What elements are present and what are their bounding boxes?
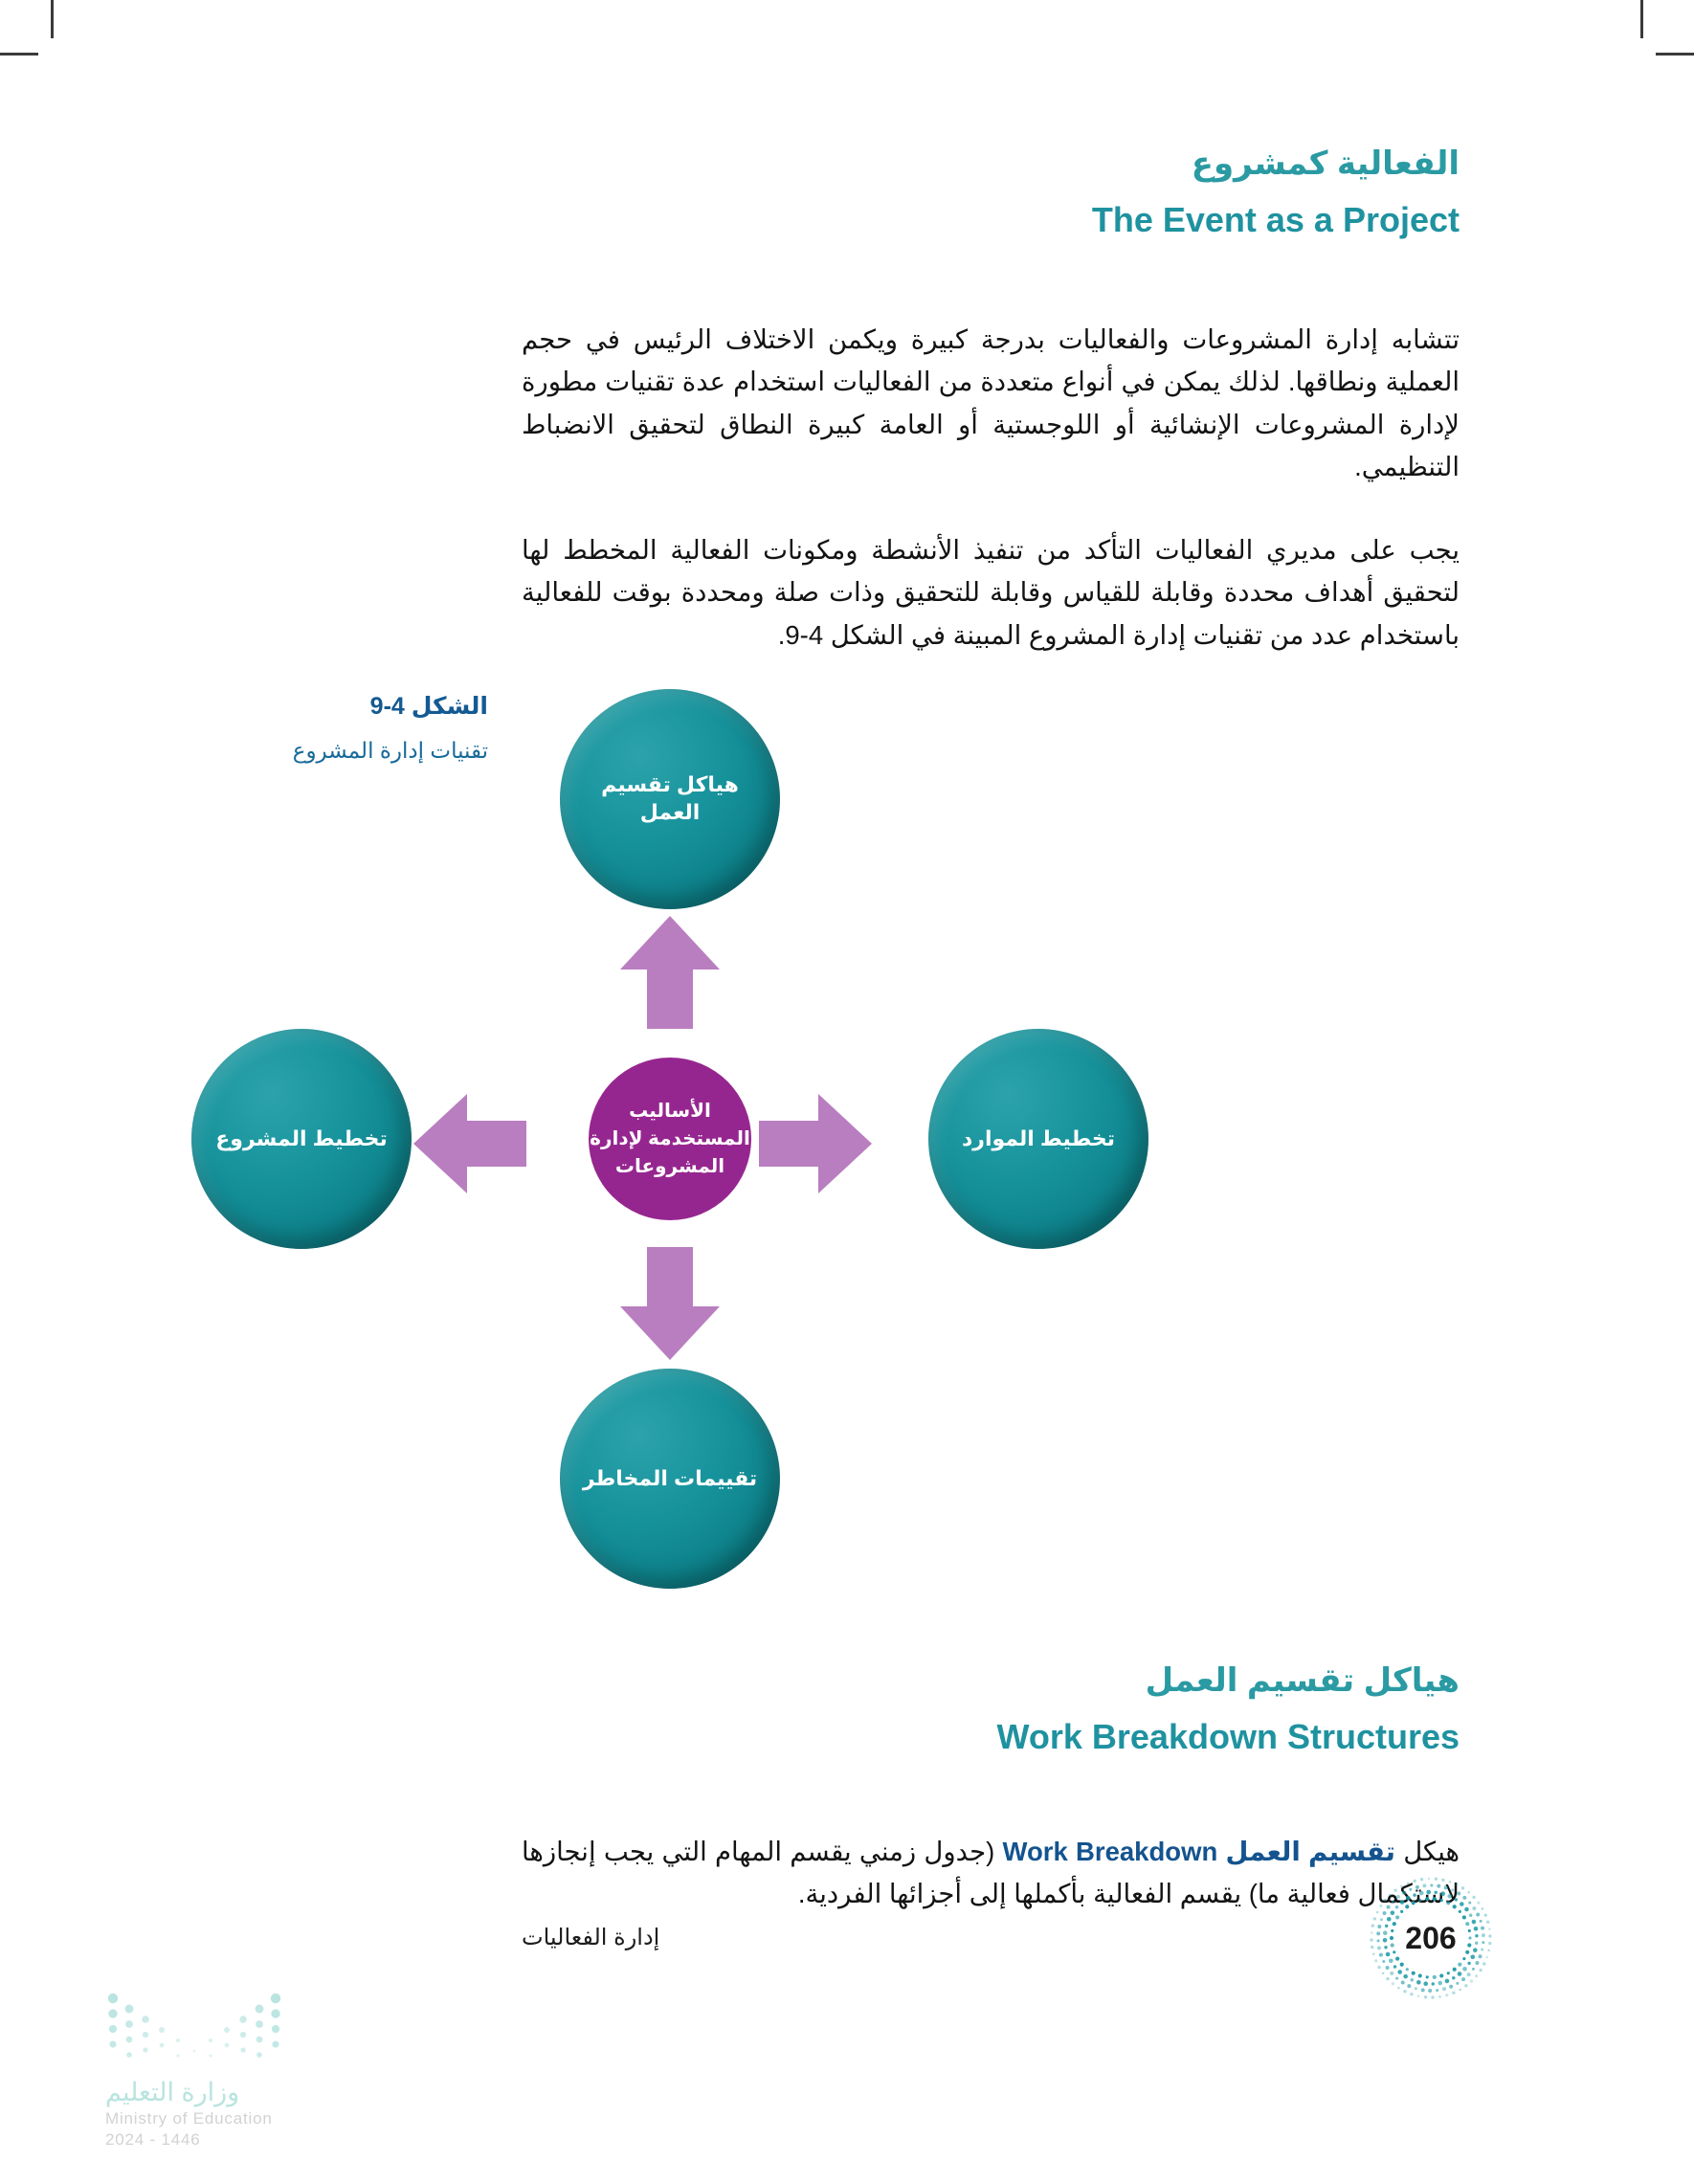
intro-paragraph-1: تتشابه إدارة المشروعات والفعاليات بدرجة … bbox=[522, 319, 1460, 489]
intro-paragraph-2: يجب على مديري الفعاليات التأكد من تنفيذ … bbox=[522, 529, 1460, 657]
moe-year: 2024 - 1446 bbox=[105, 2130, 392, 2150]
running-title-text: إدارة الفعاليات bbox=[522, 1925, 659, 1950]
wbs-heading-english: Work Breakdown Structures bbox=[522, 1715, 1460, 1758]
arrow-down-icon bbox=[620, 1247, 720, 1365]
wbs-keyword-english: Work Breakdown bbox=[1003, 1837, 1218, 1866]
diagram-node-label: تخطيط الموارد bbox=[952, 1125, 1125, 1153]
diagram-node-label: تخطيط المشروع bbox=[206, 1125, 397, 1153]
moe-palm-dots-icon bbox=[105, 1991, 392, 2064]
section-heading-event-project: الفعالية كمشروع The Event as a Project bbox=[522, 144, 1460, 241]
section-heading-wbs: هياكل تقسيم العمل Work Breakdown Structu… bbox=[522, 1660, 1460, 1758]
diagram-node-risk-assessments: تقييمات المخاطر bbox=[560, 1369, 780, 1589]
diagram-center-label: الأساليب المستخدمة لإدارة المشروعات bbox=[590, 1098, 750, 1181]
diagram-node-project-planning: تخطيط المشروع bbox=[191, 1029, 412, 1249]
diagram-node-work-breakdown-structures: هياكل تقسيم العمل bbox=[560, 689, 780, 909]
running-title: إدارة الفعاليات bbox=[522, 1924, 1460, 1951]
wbs-paragraph-lead: هيكل bbox=[1395, 1837, 1460, 1866]
wbs-keyword-arabic: تقسيم العمل bbox=[1226, 1837, 1395, 1866]
center-label-line-3: المشروعات bbox=[590, 1153, 750, 1181]
crop-mark-right-top bbox=[1656, 53, 1694, 56]
arrow-left-icon bbox=[413, 1094, 526, 1198]
diagram-center-node: الأساليب المستخدمة لإدارة المشروعات bbox=[589, 1058, 751, 1220]
center-label-line-1: الأساليب bbox=[590, 1098, 750, 1125]
arrow-right-icon bbox=[759, 1094, 872, 1198]
wbs-paragraph: هيكل تقسيم العمل Work Breakdown (جدول زم… bbox=[522, 1831, 1460, 1916]
arrow-up-icon bbox=[620, 916, 720, 1034]
diagram-node-label: هياكل تقسيم العمل bbox=[560, 771, 780, 826]
crop-mark-left-top bbox=[0, 53, 38, 56]
ministry-of-education-logo: وزارة التعليم Ministry of Education 2024… bbox=[105, 1991, 392, 2150]
textbook-page: الفعالية كمشروع The Event as a Project ت… bbox=[0, 0, 1694, 2184]
page-number-badge: 206 bbox=[1364, 1871, 1498, 2005]
moe-name-arabic: وزارة التعليم bbox=[105, 2078, 392, 2107]
moe-name-english: Ministry of Education bbox=[105, 2109, 392, 2128]
crop-mark-top-left bbox=[51, 0, 54, 38]
section-heading-english: The Event as a Project bbox=[522, 198, 1460, 241]
page-number: 206 bbox=[1364, 1871, 1498, 2005]
center-label-line-2: المستخدمة لإدارة bbox=[590, 1125, 750, 1153]
project-management-techniques-diagram: هياكل تقسيم العمل تخطيط المشروع تخطيط ال… bbox=[191, 689, 1148, 1589]
diagram-node-resource-planning: تخطيط الموارد bbox=[928, 1029, 1148, 1249]
wbs-heading-arabic: هياكل تقسيم العمل bbox=[522, 1660, 1460, 1702]
crop-mark-top-right bbox=[1640, 0, 1643, 38]
section-heading-arabic: الفعالية كمشروع bbox=[522, 144, 1460, 185]
diagram-node-label: تقييمات المخاطر bbox=[573, 1465, 767, 1493]
